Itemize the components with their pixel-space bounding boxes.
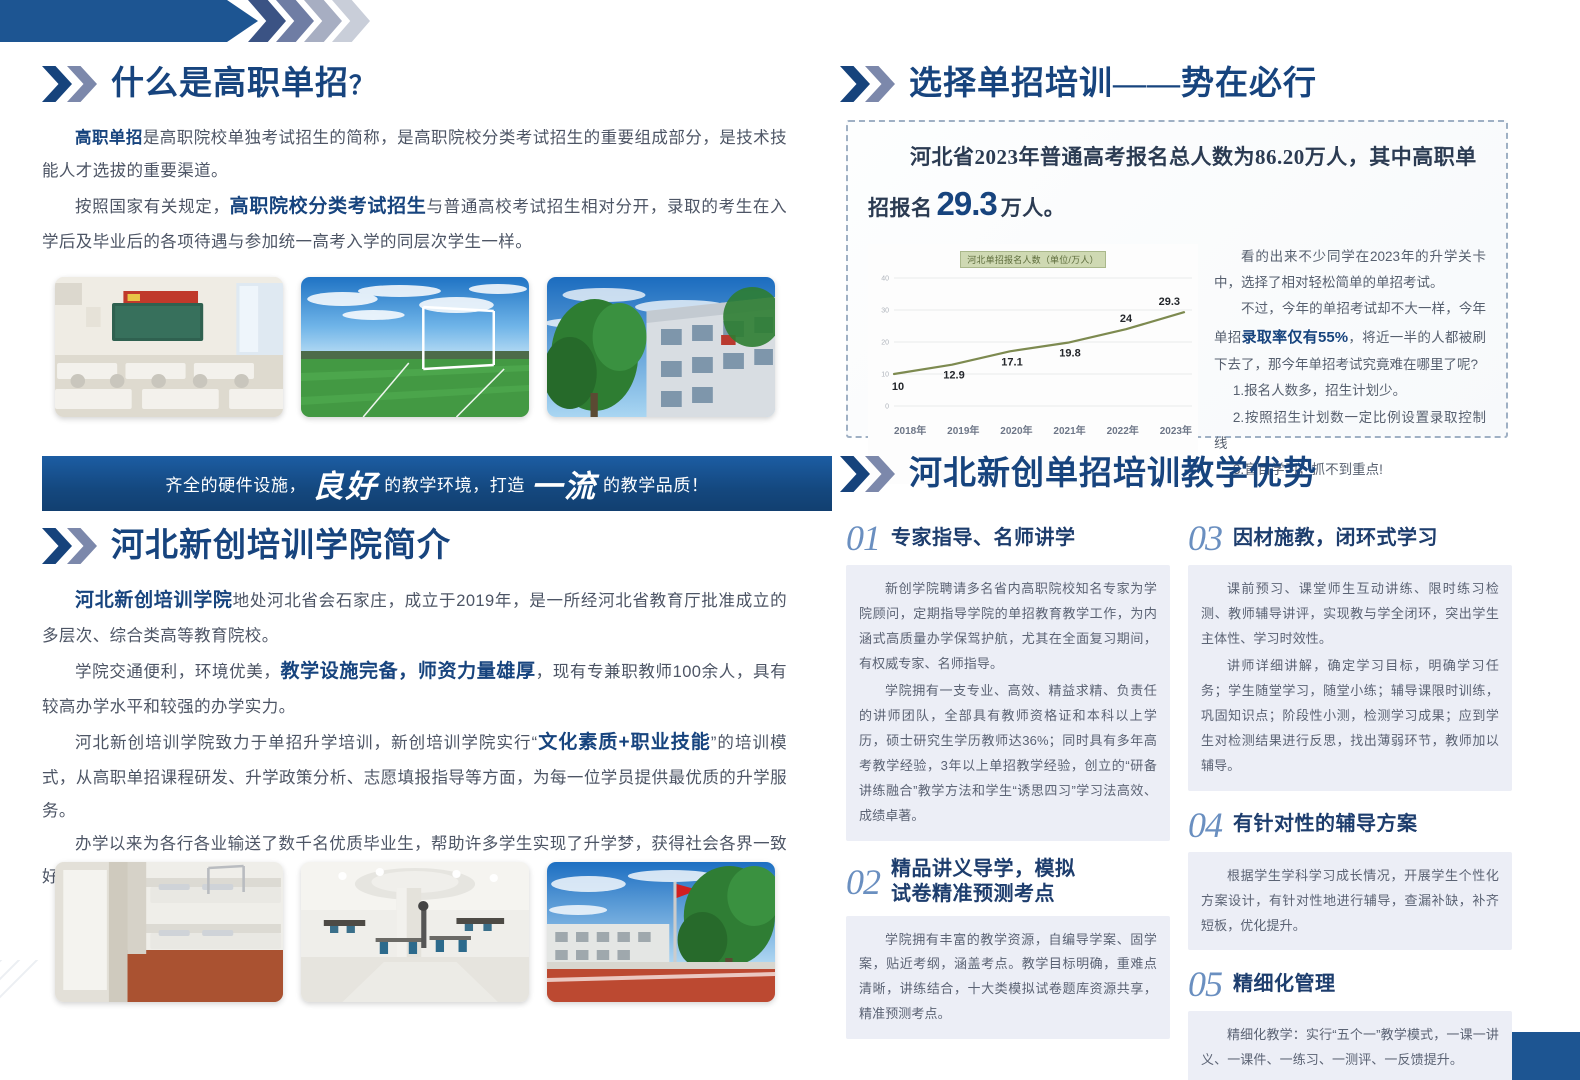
banner-script-yi-liu: 一流 xyxy=(525,461,603,506)
chart-legend-label: 河北单招报名人数（单位/万人） xyxy=(960,251,1106,268)
chart-x-tick-label: 2020年 xyxy=(1000,422,1032,437)
advantage-title: 01专家指导、名师讲学 xyxy=(846,520,1170,556)
statistics-body: 河北单招报名人数（单位/万人） 010203040 1012.917.119.8… xyxy=(868,244,1486,484)
chart-y-tick-label: 30 xyxy=(881,307,889,314)
advantage-description-box: 学院拥有丰富的教学资源，自编导学案、固学案，贴近考纲，涵盖考点。教学目标明确，重… xyxy=(846,916,1170,1040)
chart-point-label: 12.9 xyxy=(943,370,964,382)
right-column: 选择单招培训——势在必行 河北省2023年普通高考报名总人数为86.20万人，其… xyxy=(840,0,1540,1080)
advantage-name: 专家指导、名师讲学 xyxy=(891,526,1076,551)
statistics-card: 河北省2023年普通高考报名总人数为86.20万人，其中高职单招报名29.3万人… xyxy=(846,120,1508,438)
advantage-number: 01 xyxy=(846,520,880,556)
advantage-title: 05精细化管理 xyxy=(1188,966,1512,1002)
banner-mid: 的教学环境，打造 xyxy=(384,471,525,496)
headline-number: 29.3 xyxy=(933,185,1001,222)
banner-script-liang-hao: 良好 xyxy=(306,461,384,506)
paragraph: 河北新创培训学院致力于单招升学培训，新创培训学院实行“文化素质+职业技能”的培训… xyxy=(42,724,787,828)
advantage-item: 02精品讲义导学，模拟试卷精准预测考点学院拥有丰富的教学资源，自编导学案、固学案… xyxy=(846,857,1170,1040)
analysis-paragraph: 不过，今年的单招考试却不大一样，今年单招录取率仅有55%，将近一半的人都被刷下去… xyxy=(1214,296,1486,378)
advantage-description-box: 新创学院聘请多名省内高职院校知名专家为学院顾问，定期指导学院的单招教育教学工作，… xyxy=(846,565,1170,841)
section-choose-training: 选择单招培训——势在必行 xyxy=(840,66,1540,102)
highlight-text: 高职院校分类考试招生 xyxy=(230,196,427,217)
advantage-paragraph: 学院拥有一支专业、高效、精益求精、负责任的讲师团队，全部具有教师资格证和本科以上… xyxy=(859,679,1157,829)
what-is-paragraphs: 高职单招是高职院校单独考试招生的简称，是高职院校分类考试招生的重要组成部分，是技… xyxy=(42,122,787,259)
photo-strip-campus xyxy=(55,277,775,417)
heading-chevron-icon xyxy=(840,456,895,492)
heading-chevron-icon xyxy=(42,528,97,564)
dormitory-photo xyxy=(55,862,283,1002)
paragraph: 河北新创培训学院地处河北省会石家庄，成立于2019年，是一所经河北省教育厅批准成… xyxy=(42,582,787,653)
banner-pre: 齐全的硬件设施， xyxy=(165,471,306,496)
photo-strip-facilities xyxy=(55,862,775,1002)
section-heading-advantages: 河北新创单招培训教学优势 xyxy=(840,456,1540,492)
chart-y-tick-label: 0 xyxy=(885,403,889,410)
advantage-title: 02精品讲义导学，模拟试卷精准预测考点 xyxy=(846,857,1170,907)
body-text: 按照国家有关规定， xyxy=(75,198,230,216)
section-institute-intro: 河北新创培训学院简介 河北新创培训学院地处河北省会石家庄，成立于2019年，是一… xyxy=(42,528,787,894)
body-text: 2.按照招生计划数一定比例设置录取控制线 xyxy=(1214,410,1486,451)
advantage-name: 有针对性的辅导方案 xyxy=(1233,812,1418,837)
advantage-paragraph: 根据学生学科学习成长情况，开展学生个性化方案设计，有针对性地进行辅导，查漏补缺，… xyxy=(1201,864,1499,939)
section-title: 选择单招培训——势在必行 xyxy=(909,68,1317,101)
advantage-paragraph: 新创学院聘请多名省内高职院校知名专家为学院顾问，定期指导学院的单招教育教学工作，… xyxy=(859,577,1157,677)
chart-x-tick-label: 2019年 xyxy=(947,422,979,437)
advantage-paragraph: 精细化教学：实行“五个一”教学模式，一课一讲义、一课件、一练习、一测评、一反馈提… xyxy=(1201,1023,1499,1073)
advantage-item: 04有针对性的辅导方案根据学生学科学习成长情况，开展学生个性化方案设计，有针对性… xyxy=(1188,807,1512,951)
analysis-list-item: 2.按照招生计划数一定比例设置录取控制线 xyxy=(1214,405,1486,458)
section-title: 河北新创单招培训教学优势 xyxy=(909,458,1317,491)
analysis-paragraph: 看的出来不少同学在2023年的升学关卡中，选择了相对轻松简单的单招考试。 xyxy=(1214,244,1486,297)
classroom-photo xyxy=(55,277,283,417)
body-text: 学院交通便利，环境优美， xyxy=(75,663,281,681)
campus-building-photo xyxy=(547,277,775,417)
advantage-number: 05 xyxy=(1188,966,1222,1002)
section-what-is-gaozhi-danzhao: 什么是高职单招？ 高职单招是高职院校单独考试招生的简称，是高职院校分类考试招生的… xyxy=(42,66,787,259)
advantage-description-box: 根据学生学科学习成长情况，开展学生个性化方案设计，有针对性地进行辅导，查漏补缺，… xyxy=(1188,852,1512,951)
body-text: 1.报名人数多，招生计划少。 xyxy=(1233,383,1406,398)
banner-post: 的教学品质！ xyxy=(603,471,709,496)
advantages-grid: 01专家指导、名师讲学新创学院聘请多名省内高职院校知名专家为学院顾问，定期指导学… xyxy=(846,520,1512,1080)
advantage-paragraph: 学院拥有丰富的教学资源，自编导学案、固学案，贴近考纲，涵盖考点。教学目标明确，重… xyxy=(859,928,1157,1028)
paragraph: 学院交通便利，环境优美，教学设施完备，师资力量雄厚，现有专兼职教师100余人，具… xyxy=(42,653,787,724)
advantage-description-box: 课前预习、课堂师生互动讲练、限时练习检测、教师辅导讲评，实现教与学全闭环，突出学… xyxy=(1188,565,1512,791)
advantage-name: 精品讲义导学，模拟试卷精准预测考点 xyxy=(891,857,1076,907)
chart-x-axis-labels: 2018年2019年2020年2021年2022年2023年 xyxy=(868,420,1198,437)
chart-point-label: 17.1 xyxy=(1001,356,1022,368)
advantage-paragraph: 讲师详细讲解，确定学习目标，明确学习任务；学生随堂学习，随堂小练；辅导课限时训练… xyxy=(1201,654,1499,779)
body-text: 看的出来不少同学在2023年的升学关卡中，选择了相对轻松简单的单招考试。 xyxy=(1214,249,1486,290)
chart-y-tick-label: 10 xyxy=(881,371,889,378)
sports-field-photo xyxy=(301,277,529,417)
highlight-text: 录取率仅有55% xyxy=(1242,329,1348,346)
paragraph: 按照国家有关规定，高职院校分类考试招生与普通高校考试招生相对分开，录取的考生在入… xyxy=(42,188,787,259)
heading-chevron-icon xyxy=(840,66,895,102)
chart-y-tick-label: 20 xyxy=(881,339,889,346)
chart-point-label: 10 xyxy=(892,381,904,393)
highlight-text: 文化素质+职业技能 xyxy=(538,732,711,753)
section-heading-what-is: 什么是高职单招？ xyxy=(42,66,787,102)
chart-point-label: 29.3 xyxy=(1159,296,1180,308)
chart-plot-area: 010203040 1012.917.119.82429.3 xyxy=(868,270,1198,420)
institute-paragraphs: 河北新创培训学院地处河北省会石家庄，成立于2019年，是一所经河北省教育厅批准成… xyxy=(42,582,787,894)
chart-point-label: 19.8 xyxy=(1059,347,1080,359)
analysis-list-item: 1.报名人数多，招生计划少。 xyxy=(1214,378,1486,404)
chart-y-tick-label: 40 xyxy=(881,275,889,282)
paragraph: 高职单招是高职院校单独考试招生的简称，是高职院校分类考试招生的重要组成部分，是技… xyxy=(42,122,787,188)
section-advantages: 河北新创单招培训教学优势 xyxy=(840,456,1540,492)
chart-x-tick-label: 2022年 xyxy=(1107,422,1139,437)
advantages-column-right: 03因材施教，闭环式学习课前预习、课堂师生互动讲练、限时练习检测、教师辅导讲评，… xyxy=(1188,520,1512,1080)
advantage-number: 04 xyxy=(1188,807,1222,843)
enrollment-line-chart: 河北单招报名人数（单位/万人） 010203040 1012.917.119.8… xyxy=(868,244,1198,484)
chart-x-tick-label: 2021年 xyxy=(1053,422,1085,437)
left-column: 什么是高职单招？ 高职单招是高职院校单独考试招生的简称，是高职院校分类考试招生的… xyxy=(42,0,787,1080)
advantage-item: 03因材施教，闭环式学习课前预习、课堂师生互动讲练、限时练习检测、教师辅导讲评，… xyxy=(1188,520,1512,791)
body-text: 河北新创培训学院致力于单招升学培训，新创培训学院实行“ xyxy=(75,734,538,752)
highlight-text: 教学设施完备，师资力量雄厚 xyxy=(281,661,536,682)
section-title: 河北新创培训学院简介 xyxy=(111,530,451,563)
advantage-number: 03 xyxy=(1188,520,1222,556)
headline-suffix: 万人。 xyxy=(1001,196,1066,220)
highlight-text: 河北新创培训学院 xyxy=(75,590,233,611)
heading-chevron-icon xyxy=(42,66,97,102)
advantage-title: 04有针对性的辅导方案 xyxy=(1188,807,1512,843)
chart-x-tick-label: 2023年 xyxy=(1160,422,1192,437)
advantage-title: 03因材施教，闭环式学习 xyxy=(1188,520,1512,556)
advantage-name: 精细化管理 xyxy=(1233,972,1336,997)
chart-x-tick-label: 2018年 xyxy=(894,422,926,437)
quality-banner: 齐全的硬件设施， 良好 的教学环境，打造 一流 的教学品质！ xyxy=(42,456,832,511)
chart-point-label: 24 xyxy=(1120,313,1133,325)
advantage-item: 05精细化管理精细化教学：实行“五个一”教学模式，一课一讲义、一课件、一练习、一… xyxy=(1188,966,1512,1080)
advantage-paragraph: 课前预习、课堂师生互动讲练、限时练习检测、教师辅导讲评，实现教与学全闭环，突出学… xyxy=(1201,577,1499,652)
section-heading-institute: 河北新创培训学院简介 xyxy=(42,528,787,564)
highlight-text: 高职单招 xyxy=(75,129,143,147)
advantage-item: 01专家指导、名师讲学新创学院聘请多名省内高职院校知名专家为学院顾问，定期指导学… xyxy=(846,520,1170,841)
statistics-analysis-text: 看的出来不少同学在2023年的升学关卡中，选择了相对轻松简单的单招考试。 不过，… xyxy=(1214,244,1486,484)
chart-legend: 河北单招报名人数（单位/万人） xyxy=(868,250,1198,268)
advantages-column-left: 01专家指导、名师讲学新创学院聘请多名省内高职院校知名专家为学院顾问，定期指导学… xyxy=(846,520,1170,1080)
advantage-name: 因材施教，闭环式学习 xyxy=(1233,526,1438,551)
body-text: 是高职院校单独考试招生的简称，是高职院校分类考试招生的重要组成部分，是技术技能人… xyxy=(42,129,787,180)
campus-track-photo xyxy=(547,862,775,1002)
advantage-description-box: 精细化教学：实行“五个一”教学模式，一课一讲义、一课件、一练习、一测评、一反馈提… xyxy=(1188,1011,1512,1080)
statistics-headline: 河北省2023年普通高考报名总人数为86.20万人，其中高职单招报名29.3万人… xyxy=(868,140,1486,232)
advantage-number: 02 xyxy=(846,864,880,900)
section-heading-choose-training: 选择单招培训——势在必行 xyxy=(840,66,1540,102)
section-title: 什么是高职单招？ xyxy=(111,68,375,101)
canteen-photo xyxy=(301,862,529,1002)
